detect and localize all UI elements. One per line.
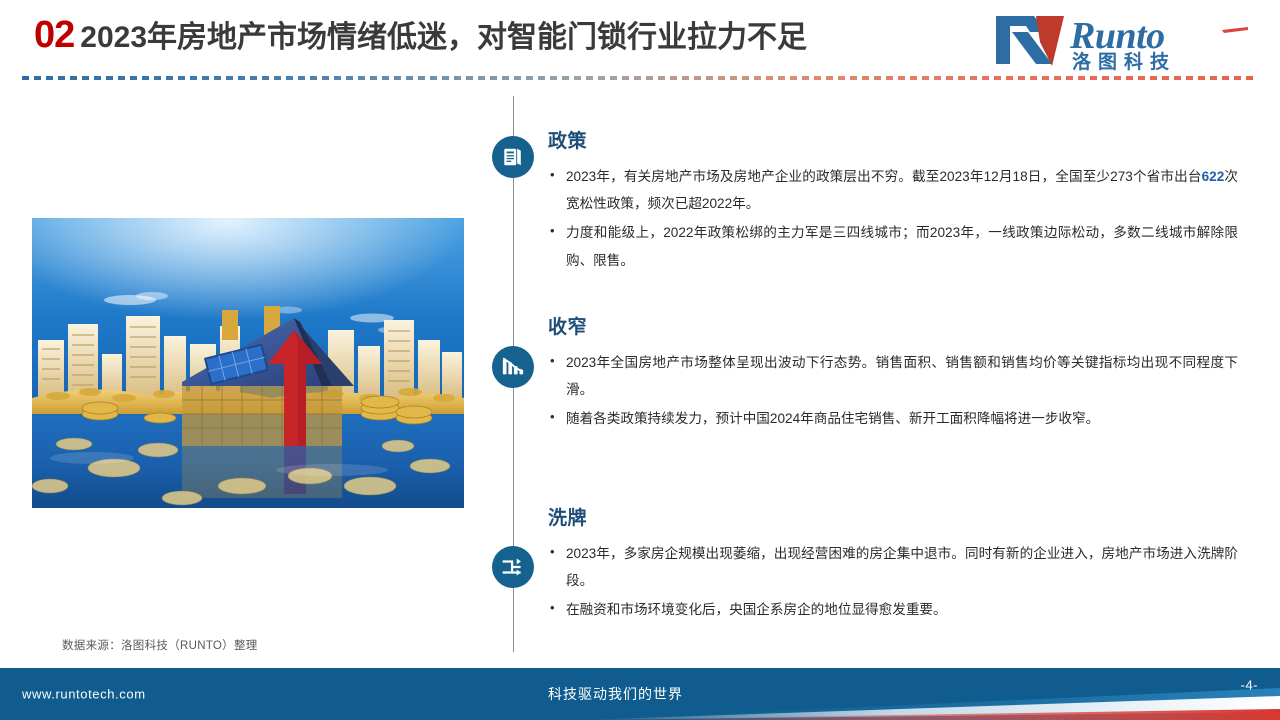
list-item: 随着各类政策持续发力，预计中国2024年商品住宅销售、新开工面积降幅将进一步收窄… xyxy=(548,405,1238,432)
source-note: 数据来源：洛图科技（RUNTO）整理 xyxy=(62,637,258,653)
footer-website-url[interactable]: www.runtotech.com xyxy=(22,687,146,702)
bullet-list: 2023年，有关房地产市场及房地产企业的政策层出不穷。截至2023年12月18日… xyxy=(548,163,1238,274)
slide-footer: www.runtotech.com 科技驱动我们的世界 -4- xyxy=(0,668,1280,720)
svg-text:洛图科技: 洛图科技 xyxy=(1072,50,1176,72)
section-heading: 收窄 xyxy=(548,312,1238,339)
section-heading: 政策 xyxy=(548,126,1238,153)
list-item: 在融资和市场环境变化后，央国企系房企的地位显得愈发重要。 xyxy=(548,596,1238,623)
footer-swoosh-decoration xyxy=(580,668,1280,720)
shuffle-swap-icon xyxy=(492,546,534,588)
bullet-list: 2023年全国房地产市场整体呈现出波动下行态势。销售面积、销售额和销售均价等关键… xyxy=(548,349,1238,433)
hero-illustration xyxy=(32,218,464,508)
list-item: 2023年全国房地产市场整体呈现出波动下行态势。销售面积、销售额和销售均价等关键… xyxy=(548,349,1238,403)
slide-header: 02 2023年房地产市场情绪低迷，对智能门锁行业拉力不足 Runto 洛图科技 xyxy=(0,0,1280,92)
runto-logo: Runto 洛图科技 xyxy=(990,10,1252,72)
bullet-list: 2023年，多家房企规模出现萎缩，出现经营困难的房企集中退市。同时有新的企业进入… xyxy=(548,540,1238,624)
section-reshuffle: 洗牌 2023年，多家房企规模出现萎缩，出现经营困难的房企集中退市。同时有新的企… xyxy=(548,503,1238,626)
page-title-text: 2023年房地产市场情绪低迷，对智能门锁行业拉力不足 xyxy=(80,23,807,53)
book-document-icon xyxy=(492,136,534,178)
highlight-value: 622 xyxy=(1202,169,1225,184)
list-item: 力度和能级上，2022年政策松绑的主力军是三四线城市；而2023年，一线政策边际… xyxy=(548,219,1238,273)
list-item: 2023年，多家房企规模出现萎缩，出现经营困难的房企集中退市。同时有新的企业进入… xyxy=(548,540,1238,594)
section-narrowing: 收窄 2023年全国房地产市场整体呈现出波动下行态势。销售面积、销售额和销售均价… xyxy=(548,312,1238,435)
section-number: 02 xyxy=(34,16,74,54)
svg-text:Runto: Runto xyxy=(1069,15,1165,57)
section-heading: 洗牌 xyxy=(548,503,1238,530)
list-item: 2023年，有关房地产市场及房地产企业的政策层出不穷。截至2023年12月18日… xyxy=(548,163,1238,217)
header-dashed-divider xyxy=(22,76,1258,80)
declining-bar-chart-icon xyxy=(492,346,534,388)
footer-slogan: 科技驱动我们的世界 xyxy=(548,684,683,704)
section-policy: 政策 2023年，有关房地产市场及房地产企业的政策层出不穷。截至2023年12月… xyxy=(548,126,1238,276)
page-title: 02 2023年房地产市场情绪低迷，对智能门锁行业拉力不足 xyxy=(34,16,807,54)
page-number: -4- xyxy=(1241,678,1258,693)
